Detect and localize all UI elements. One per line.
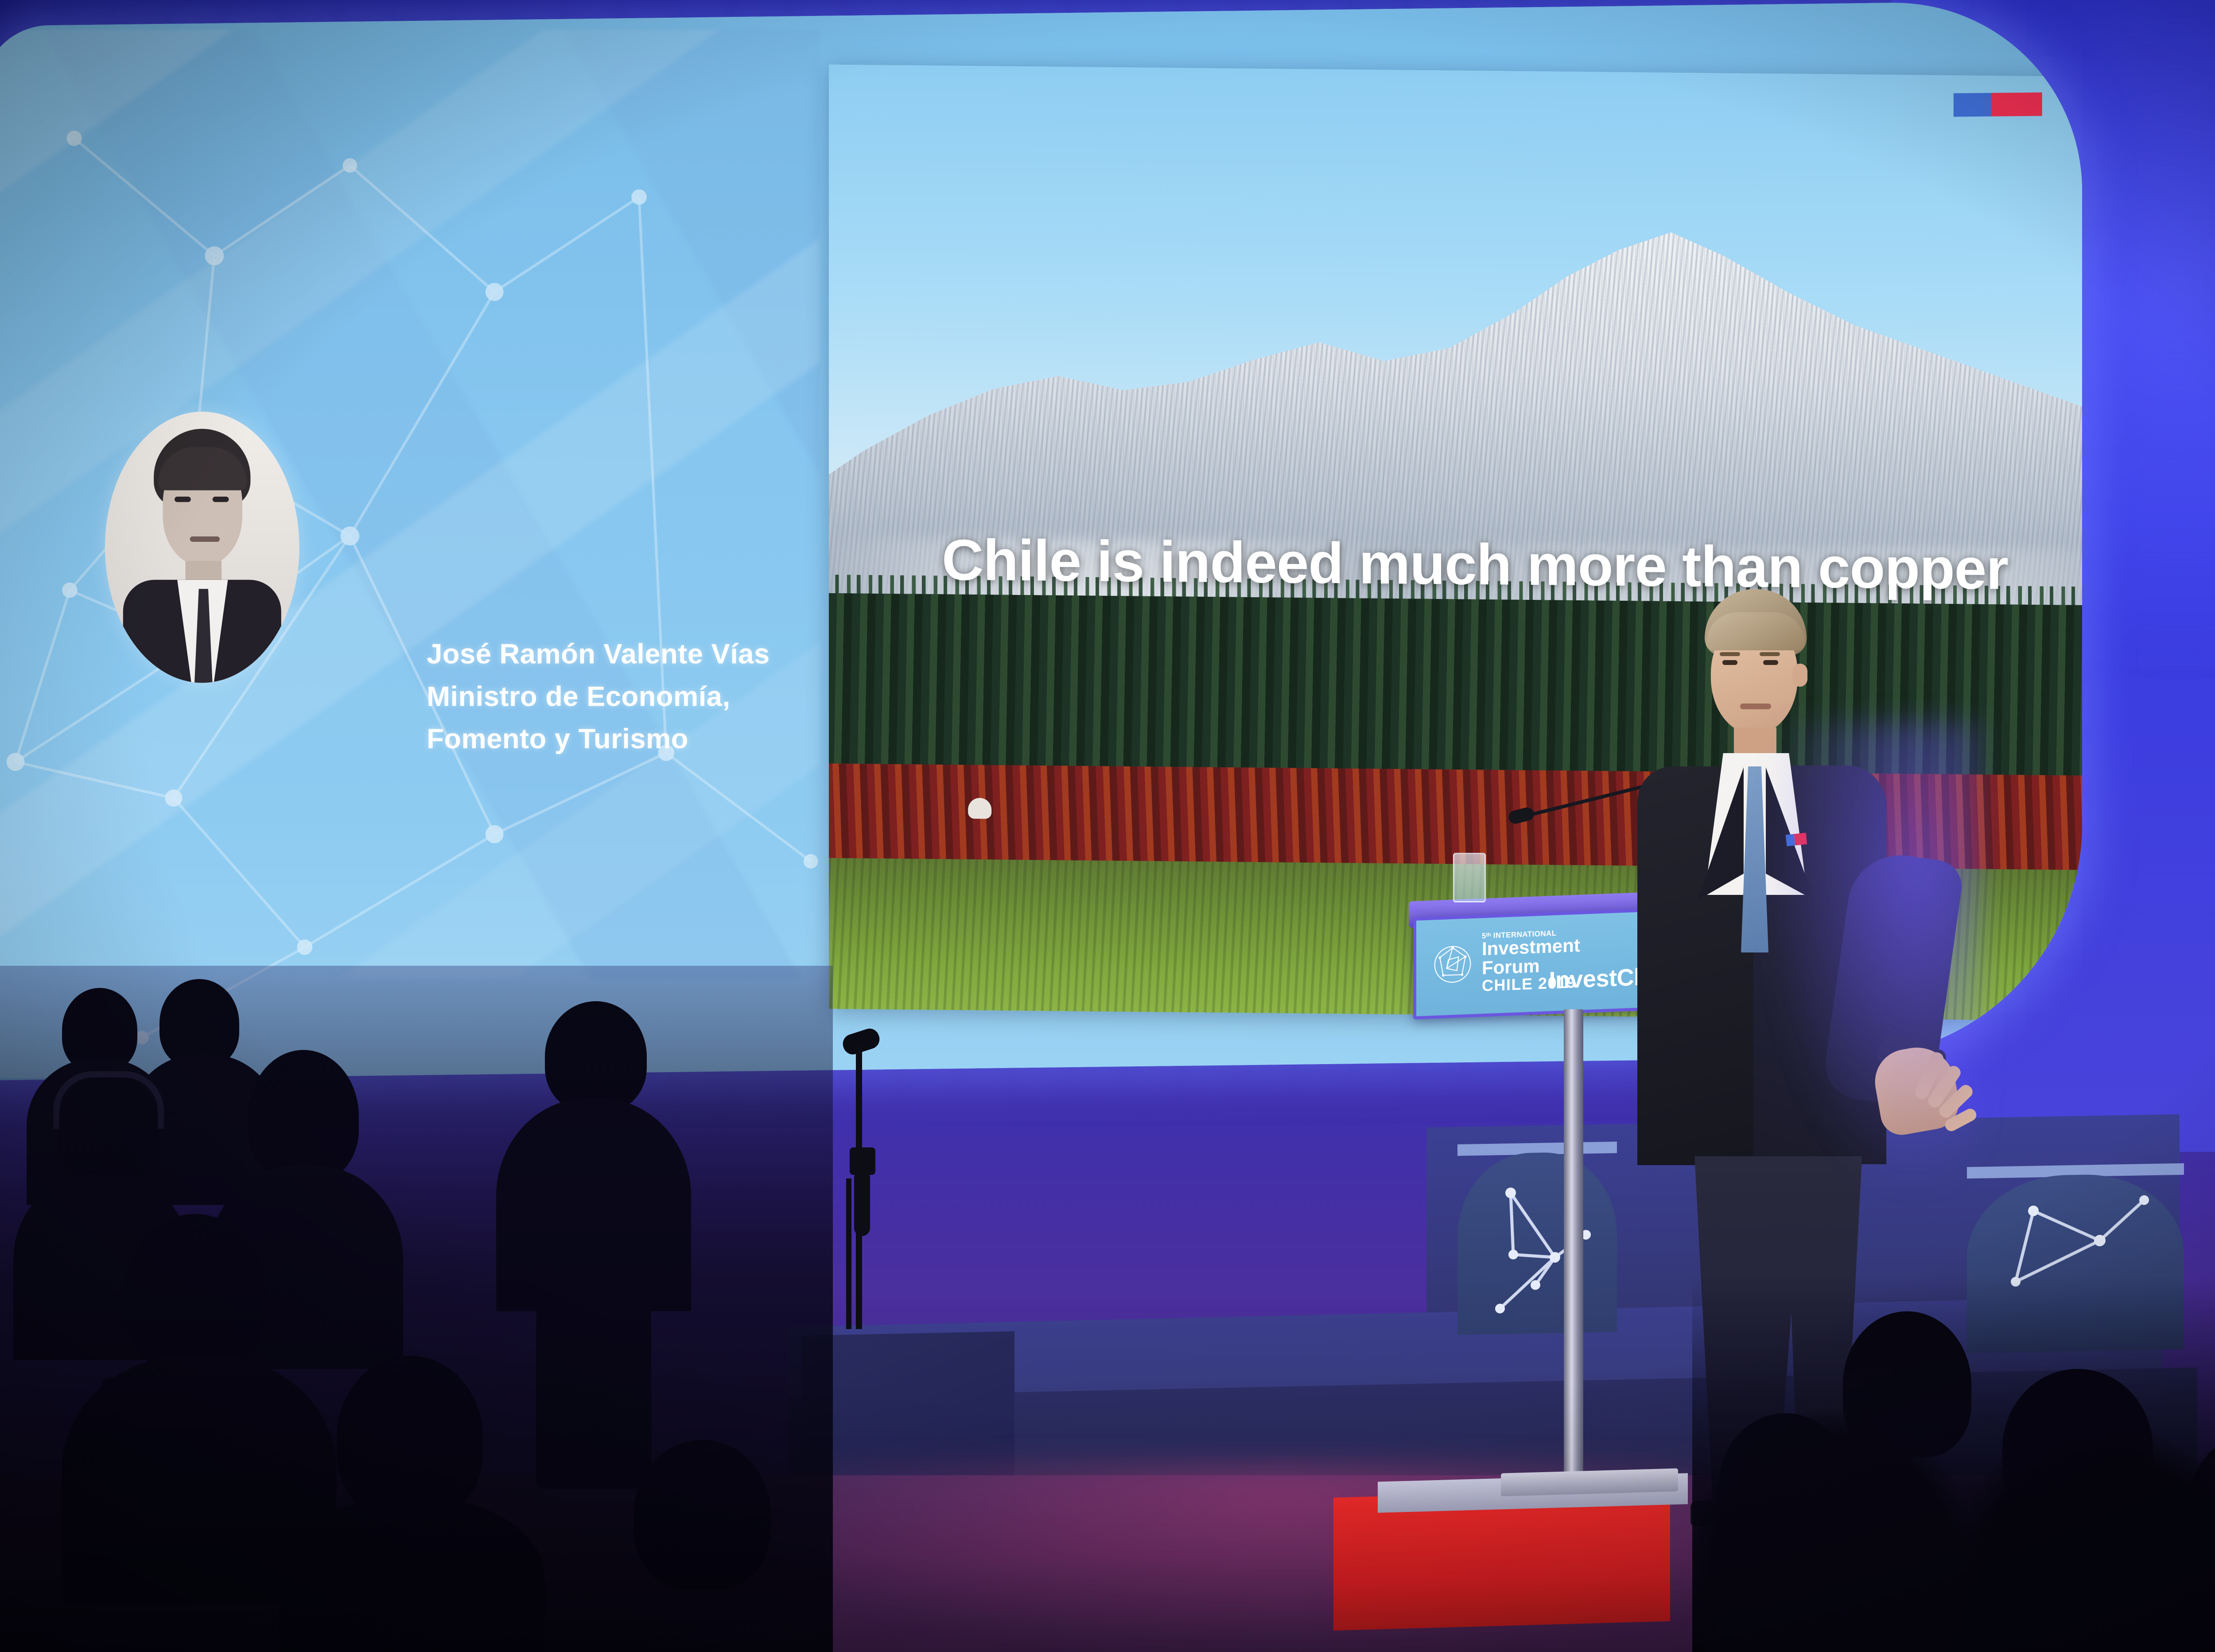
chile-flag-accent <box>1954 93 2042 117</box>
flag-red-bar <box>1991 93 2042 117</box>
presentation-photo: José Ramón Valente Vías Ministro de Econ… <box>0 0 2215 1652</box>
flag-blue-bar <box>1954 93 1991 117</box>
chile-flag-lapel-pin <box>1786 833 1807 847</box>
microphone-stand <box>833 1019 886 1329</box>
water-glass <box>1453 853 1486 902</box>
speaker-credit-block: José Ramón Valente Vías Ministro de Econ… <box>427 633 788 761</box>
speaker-role-line-2: Fomento y Turismo <box>427 718 788 761</box>
audience-background-right <box>1692 1276 2215 1652</box>
audience-foreground <box>0 966 833 1652</box>
forum-globe-icon <box>1431 939 1474 990</box>
speaker-portrait-avatar <box>105 412 299 683</box>
lectern-stem <box>1564 1009 1583 1488</box>
speaker-name: José Ramón Valente Vías <box>427 633 788 676</box>
speaker-role-line-1: Ministro de Economía, <box>427 676 788 718</box>
